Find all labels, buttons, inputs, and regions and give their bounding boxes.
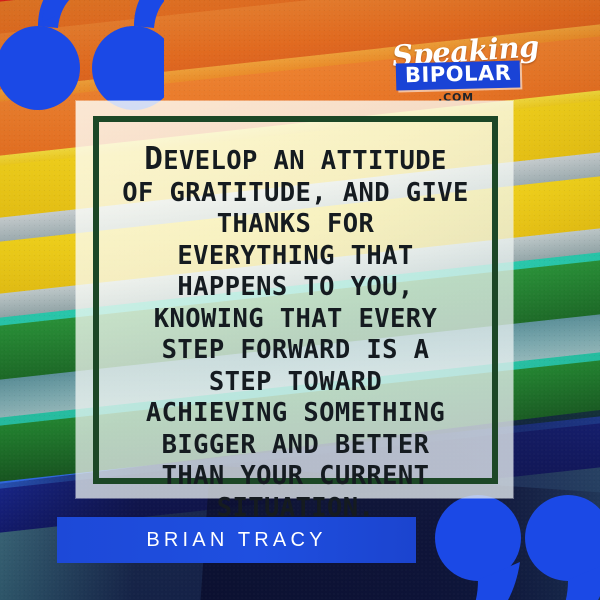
- quote-frame-border: Develop an attitude of gratitude, and gi…: [93, 116, 498, 484]
- quote-text: Develop an attitude of gratitude, and gi…: [105, 144, 486, 524]
- quote-panel: Develop an attitude of gratitude, and gi…: [76, 101, 513, 498]
- attribution-bar: Brian Tracy: [57, 517, 416, 563]
- author-name: Brian Tracy: [146, 529, 326, 552]
- quote-graphic-canvas: Speaking BIPOLAR .COM Develop an attitud…: [0, 0, 600, 600]
